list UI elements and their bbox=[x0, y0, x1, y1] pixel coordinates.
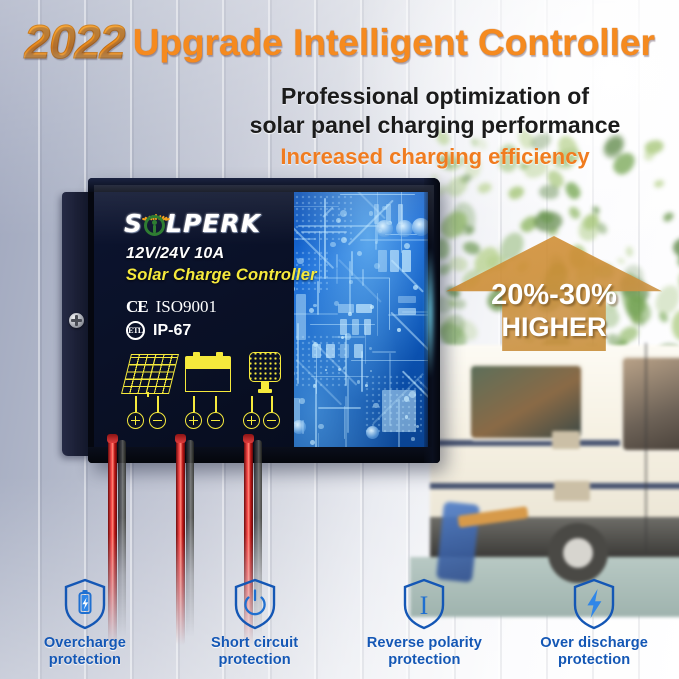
feature-label: Short circuit protection bbox=[211, 635, 298, 669]
device-led-glow bbox=[425, 248, 435, 378]
led-lamp-icon bbox=[240, 350, 292, 396]
ce-mark-icon: CE bbox=[126, 297, 148, 317]
terminal-icon-row bbox=[124, 350, 292, 438]
feature-label-line-2: protection bbox=[558, 652, 630, 668]
wire-terminal-cap bbox=[175, 434, 186, 443]
brand-logo-prefix: S bbox=[124, 209, 143, 238]
positive-terminal-icon bbox=[243, 412, 260, 429]
rv-window-left bbox=[468, 363, 584, 441]
badge-label: HIGHER bbox=[446, 312, 662, 343]
subtitle-line-3: Increased charging efficiency bbox=[225, 144, 645, 171]
feature-label: Over discharge protection bbox=[540, 635, 648, 669]
wire-terminal-cap bbox=[107, 434, 118, 443]
subtitle-line-1: Professional optimization of bbox=[225, 82, 645, 110]
positive-terminal-icon bbox=[127, 412, 144, 429]
rv-wheel bbox=[548, 523, 608, 583]
product-banner: 2022Upgrade Intelligent Controller Profe… bbox=[0, 0, 679, 679]
terminal-solar-panel bbox=[124, 350, 176, 438]
rv-camper-photo bbox=[430, 335, 679, 585]
feature-label-line-1: Over discharge bbox=[540, 635, 648, 651]
rv-vent-upper bbox=[552, 431, 580, 449]
shield-bolt-icon bbox=[571, 578, 617, 630]
solar-panel-icon bbox=[124, 350, 176, 396]
headline-text: Upgrade Intelligent Controller bbox=[133, 22, 655, 63]
terminal-legs bbox=[240, 396, 292, 438]
feature-label: Reverse polarity protection bbox=[367, 635, 482, 669]
certification-ip-label: IP-67 bbox=[153, 322, 191, 340]
feature-label-line-1: Short circuit bbox=[211, 635, 298, 651]
certification-ce-label: ISO9001 bbox=[156, 297, 217, 317]
feature-short-circuit-protection: Short circuit protection bbox=[170, 578, 340, 674]
terminal-load-lamp bbox=[240, 350, 292, 438]
etl-mark-icon: ETL bbox=[126, 321, 145, 340]
brand-logo-suffix: LPERK bbox=[166, 209, 261, 238]
certification-ce: CE ISO9001 bbox=[126, 297, 217, 317]
shield-battery-icon bbox=[62, 578, 108, 630]
terminal-battery bbox=[182, 350, 234, 438]
protection-features-row: Overcharge protection Short circuit prot… bbox=[0, 578, 679, 674]
positive-terminal-icon bbox=[185, 412, 202, 429]
badge-percent: 20%-30% bbox=[446, 279, 662, 312]
shield-power-icon bbox=[232, 578, 278, 630]
negative-terminal-icon bbox=[149, 412, 166, 429]
headline-year: 2022 bbox=[24, 15, 125, 68]
mounting-screw-icon bbox=[69, 313, 84, 328]
circuit-board bbox=[278, 184, 428, 450]
efficiency-badge: 20%-30% HIGHER bbox=[446, 236, 662, 351]
feature-reverse-polarity-protection: I Reverse polarity protection bbox=[340, 578, 510, 674]
device-model-line-2: Solar Charge Controller bbox=[126, 266, 317, 285]
rv-cable bbox=[645, 343, 647, 553]
feature-label: Overcharge protection bbox=[44, 635, 126, 669]
feature-label-line-1: Reverse polarity bbox=[367, 635, 482, 651]
feature-overcharge-protection: Overcharge protection bbox=[0, 578, 170, 674]
device-body: S LPERK 12V/24V 10A Solar Charge Control… bbox=[88, 178, 440, 463]
sun-person-logo-icon bbox=[142, 211, 167, 238]
feature-label-line-1: Overcharge bbox=[44, 635, 126, 651]
negative-terminal-icon bbox=[263, 412, 280, 429]
device-model-line-1: 12V/24V 10A bbox=[126, 245, 224, 263]
feature-label-line-2: protection bbox=[218, 652, 290, 668]
feature-label-line-2: protection bbox=[49, 652, 121, 668]
wire-terminal-cap bbox=[243, 434, 254, 443]
subtitle-line-2: solar panel charging performance bbox=[225, 111, 645, 139]
rv-vent-lower bbox=[554, 481, 590, 501]
feature-over-discharge-protection: Over discharge protection bbox=[509, 578, 679, 674]
terminal-legs bbox=[182, 396, 234, 438]
svg-text:I: I bbox=[420, 591, 429, 620]
brand-logo: S LPERK bbox=[124, 206, 261, 238]
rv-window-right bbox=[620, 355, 679, 453]
negative-terminal-icon bbox=[207, 412, 224, 429]
shield-polarity-icon: I bbox=[401, 578, 447, 630]
certification-etl: ETL IP-67 bbox=[126, 321, 191, 340]
device-top-bezel bbox=[88, 178, 440, 192]
feature-label-line-2: protection bbox=[388, 652, 460, 668]
solar-charge-controller-device: S LPERK 12V/24V 10A Solar Charge Control… bbox=[62, 178, 440, 466]
terminal-legs bbox=[124, 396, 176, 438]
battery-icon bbox=[182, 350, 234, 396]
headline: 2022Upgrade Intelligent Controller bbox=[0, 14, 679, 69]
